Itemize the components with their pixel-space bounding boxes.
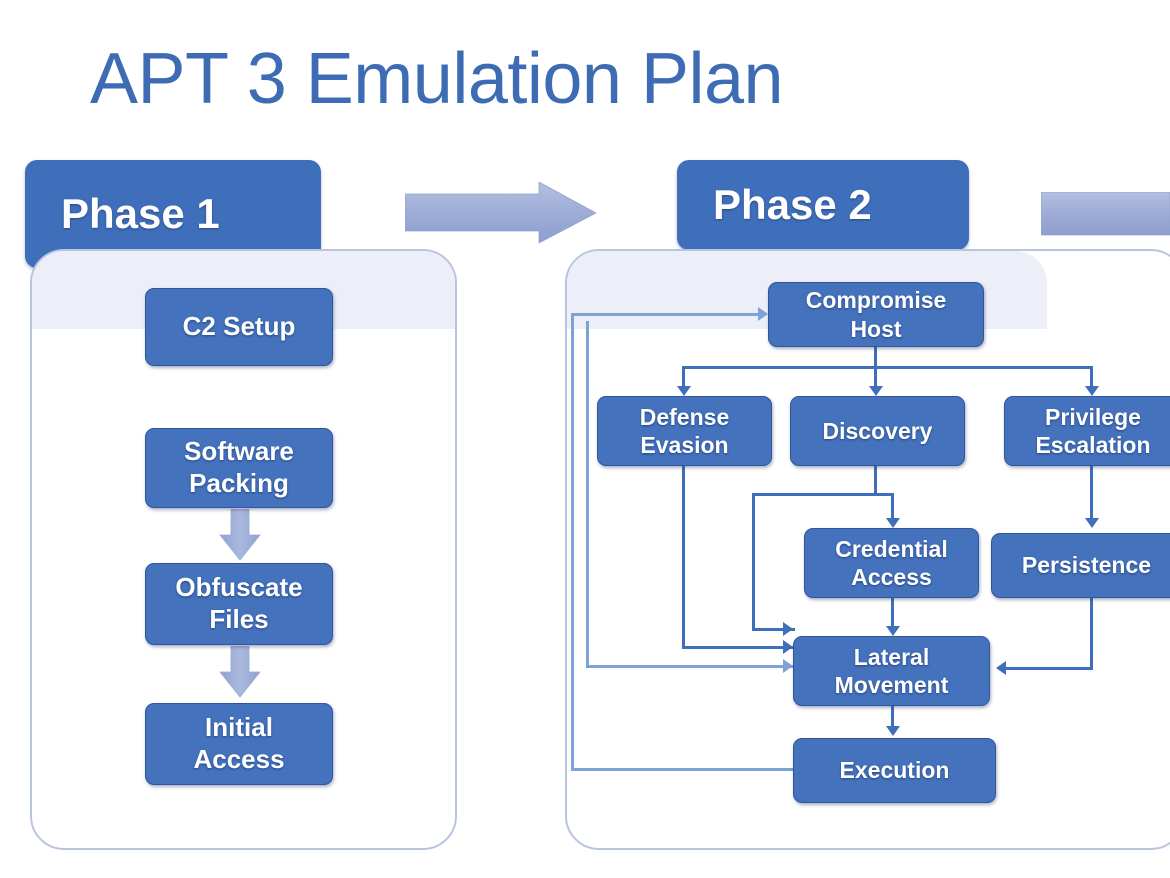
node-persistence-label: Persistence	[1022, 551, 1151, 579]
connector-defense-evasion-down	[682, 466, 685, 649]
node-privilege-escalation[interactable]: Privilege Escalation	[1004, 396, 1170, 466]
node-compromise-host-label-line2: Host	[850, 315, 901, 343]
node-execution-label: Execution	[840, 756, 950, 784]
arrowhead-defense-evasion-into-lateral	[783, 640, 793, 654]
connector-execution-to-compromise-host-bottom	[571, 768, 796, 771]
arrowhead-defense-evasion	[677, 386, 691, 396]
connector-credential-access-to-lateral	[891, 598, 894, 629]
node-execution[interactable]: Execution	[793, 738, 996, 803]
connector-credential-access-drop	[891, 493, 894, 520]
connector-defense-evasion-loop-bottom	[586, 665, 795, 668]
phase-2-tab-label: Phase 2	[677, 181, 872, 229]
arrowhead-credential-access	[886, 518, 900, 528]
page-title: APT 3 Emulation Plan	[90, 38, 783, 120]
phase-2-tab[interactable]: Phase 2	[677, 160, 969, 250]
node-software-packing-label-line2: Packing	[189, 468, 289, 500]
node-credential-access[interactable]: Credential Access	[804, 528, 979, 598]
slide-canvas: APT 3 Emulation Plan Phase 1 C2 Setup So…	[0, 0, 1170, 878]
phase-transition-arrow-icon	[405, 182, 597, 244]
connector-discovery-bar	[752, 493, 877, 496]
node-discovery-label: Discovery	[823, 417, 933, 445]
connector-compromise-host-down	[874, 346, 877, 368]
arrowhead-execution	[886, 726, 900, 736]
connector-drop-defense-evasion	[682, 366, 685, 388]
arrowhead-discovery	[869, 386, 883, 396]
phase-1-tab-label: Phase 1	[25, 190, 220, 238]
node-lateral-movement-label-line2: Movement	[835, 671, 949, 699]
connector-compromise-host-distribution-bar	[682, 366, 1093, 369]
node-software-packing-label-line1: Software	[184, 436, 294, 468]
connector-defense-evasion-to-lateral	[682, 646, 795, 649]
node-obfuscate-files-label-line1: Obfuscate	[175, 572, 302, 604]
arrow-obfuscate-files-to-initial-access	[219, 646, 261, 698]
connector-discovery-down	[874, 466, 877, 496]
node-compromise-host-label-line1: Compromise	[806, 286, 947, 314]
connector-persistence-to-lateral	[1006, 667, 1093, 670]
node-discovery[interactable]: Discovery	[790, 396, 965, 466]
arrowhead-defense-evasion-loop-into-lateral	[783, 659, 793, 673]
connector-privilege-escalation-to-persistence	[1090, 466, 1093, 522]
node-initial-access-label-line2: Access	[193, 744, 284, 776]
connector-drop-privilege-escalation	[1090, 366, 1093, 388]
arrowhead-credential-access-into-lateral	[886, 626, 900, 636]
phase-transition-arrow-2-icon	[1041, 192, 1170, 236]
node-c2-setup[interactable]: C2 Setup	[145, 288, 333, 366]
node-defense-evasion-label-line2: Evasion	[640, 431, 728, 459]
arrowhead-persistence	[1085, 518, 1099, 528]
node-privilege-escalation-label-line1: Privilege	[1045, 403, 1141, 431]
node-lateral-movement-label-line1: Lateral	[854, 643, 929, 671]
connector-discovery-left-down	[752, 493, 755, 631]
node-credential-access-label-line1: Credential	[835, 535, 947, 563]
connector-execution-to-compromise-host-vertical	[571, 313, 574, 771]
connector-persistence-down	[1090, 598, 1093, 670]
arrow-software-packing-to-obfuscate-files	[219, 509, 261, 561]
node-privilege-escalation-label-line2: Escalation	[1035, 431, 1150, 459]
connector-drop-discovery	[874, 366, 877, 388]
node-persistence[interactable]: Persistence	[991, 533, 1170, 598]
node-software-packing[interactable]: Software Packing	[145, 428, 333, 508]
connector-defense-evasion-loop-vertical	[586, 321, 589, 668]
node-obfuscate-files-label-line2: Files	[209, 604, 268, 636]
node-lateral-movement[interactable]: Lateral Movement	[793, 636, 990, 706]
node-c2-setup-label: C2 Setup	[183, 311, 296, 343]
arrowhead-into-compromise-host	[758, 307, 768, 321]
node-initial-access-label-line1: Initial	[205, 712, 273, 744]
node-defense-evasion[interactable]: Defense Evasion	[597, 396, 772, 466]
node-obfuscate-files[interactable]: Obfuscate Files	[145, 563, 333, 645]
arrowhead-discovery-into-lateral	[783, 622, 793, 636]
node-credential-access-label-line2: Access	[851, 563, 932, 591]
node-initial-access[interactable]: Initial Access	[145, 703, 333, 785]
connector-execution-to-compromise-host-top	[571, 313, 761, 316]
arrowhead-persistence-into-lateral	[996, 661, 1006, 675]
node-compromise-host[interactable]: Compromise Host	[768, 282, 984, 347]
node-defense-evasion-label-line1: Defense	[640, 403, 729, 431]
arrowhead-privilege-escalation	[1085, 386, 1099, 396]
